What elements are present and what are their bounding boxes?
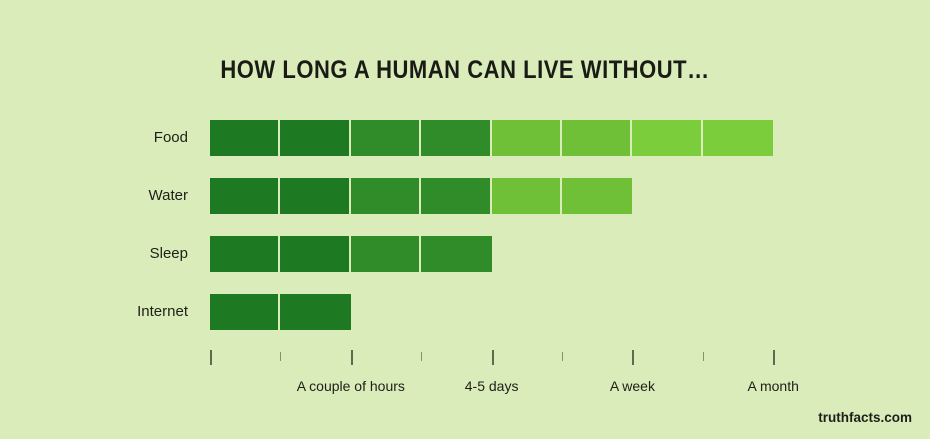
axis-tick: [632, 350, 634, 365]
axis-tick: [703, 352, 704, 361]
bar-row: Food: [0, 120, 930, 156]
axis-tick-label: A month: [748, 378, 799, 394]
axis-tick: [421, 352, 422, 361]
bar-segment: [562, 178, 632, 214]
bar-row: Water: [0, 178, 930, 214]
axis-tick: [351, 350, 353, 365]
axis-tick: [562, 352, 563, 361]
bar-segment: [562, 120, 632, 156]
axis-tick: [773, 350, 775, 365]
axis-tick-label: A week: [610, 378, 655, 394]
bar-segment: [421, 120, 491, 156]
axis-tick-label: 4-5 days: [465, 378, 519, 394]
chart-title: HOW LONG A HUMAN CAN LIVE WITHOUT…: [56, 56, 874, 85]
bar-row: Sleep: [0, 236, 930, 272]
bar-segment: [280, 294, 350, 330]
bar-segment: [632, 120, 702, 156]
bar-segment: [351, 236, 421, 272]
bar-track: [210, 294, 351, 330]
bar-segment: [351, 120, 421, 156]
bar-track: [210, 236, 492, 272]
bar-category-label: Sleep: [0, 236, 188, 272]
bar-segment: [280, 178, 350, 214]
bar-track: [210, 120, 773, 156]
bar-segment: [210, 120, 280, 156]
bar-segment: [210, 236, 280, 272]
bar-row: Internet: [0, 294, 930, 330]
axis-tick: [280, 352, 281, 361]
axis-ticks: [0, 350, 930, 370]
bar-segment: [492, 120, 562, 156]
axis-tick: [210, 350, 212, 365]
bar-segment: [703, 120, 773, 156]
bar-segment: [280, 236, 350, 272]
bar-category-label: Water: [0, 178, 188, 214]
bar-track: [210, 178, 632, 214]
bar-segment: [421, 178, 491, 214]
axis-tick-label: A couple of hours: [297, 378, 405, 394]
bar-segment: [421, 236, 491, 272]
attribution-watermark: truthfacts.com: [818, 410, 912, 425]
bar-segment: [280, 120, 350, 156]
bar-category-label: Food: [0, 120, 188, 156]
bar-segment: [492, 178, 562, 214]
bar-category-label: Internet: [0, 294, 188, 330]
infographic-chart: HOW LONG A HUMAN CAN LIVE WITHOUT… FoodW…: [0, 0, 930, 439]
bar-segment: [351, 178, 421, 214]
bar-segment: [210, 294, 280, 330]
axis-tick: [492, 350, 494, 365]
bar-segment: [210, 178, 280, 214]
